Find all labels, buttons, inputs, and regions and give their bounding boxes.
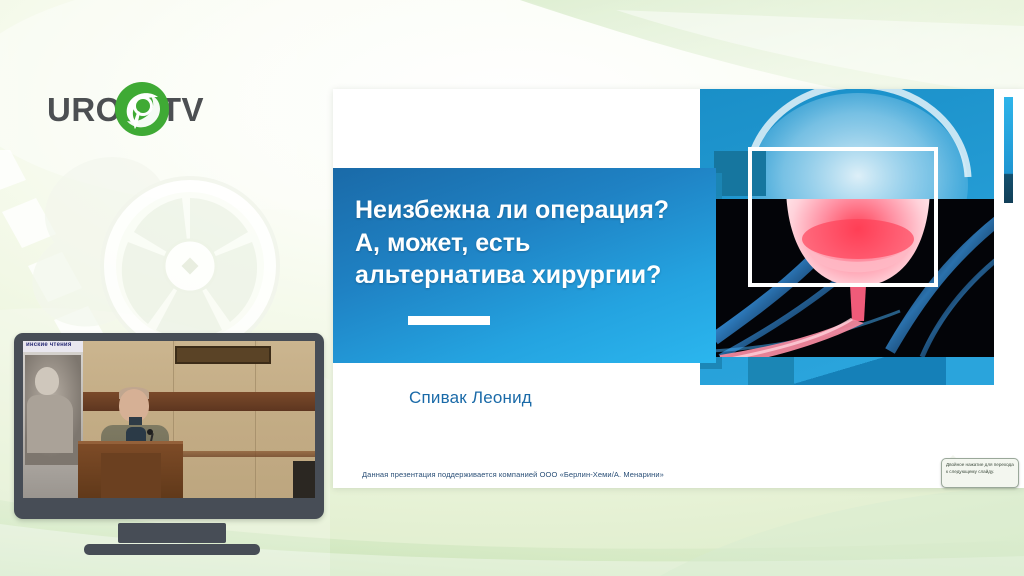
hall-dark-corner [293,461,315,498]
bladder-prostate-anatomy-illustration [700,89,1024,385]
monitor-stand-neck [118,523,226,543]
urotv-leaf-emblem-icon [114,81,170,137]
wall-picture-frame [175,346,271,364]
title-underline-rule [408,316,490,325]
presentation-viewer: URO TV ински [0,0,1024,576]
microphone-head-icon [147,429,153,435]
wall-seam [255,341,258,498]
slide-title-box: Неизбежна ли операция? А, может, есть ал… [333,168,716,363]
slide-accent-vertical-bar [1004,97,1013,203]
slide-speaker-name: Спивак Леонид [409,388,532,408]
slide-title-line-1: Неизбежна ли операция? [355,194,700,227]
video-screen[interactable]: инские чтения [23,341,315,498]
monitor-bezel: инские чтения [14,333,324,519]
urotv-logo[interactable]: URO TV [47,78,204,140]
wall-wood-stripe [79,392,315,411]
portrait-head [35,367,59,395]
conference-banner: инские чтения [23,341,83,498]
next-slide-tooltip: Двойное нажатие для перехода к следующем… [941,458,1019,488]
slide-title-line-2: А, может, есть [355,227,700,260]
slide-sponsor-disclaimer: Данная презентация поддерживается компан… [362,470,664,479]
slide-title: Неизбежна ли операция? А, может, есть ал… [355,194,700,292]
lecture-video-player[interactable]: инские чтения [14,333,324,556]
logo-text-uro: URO [47,93,122,126]
banner-title-text: инские чтения [26,342,72,348]
portrait-body [27,395,73,453]
monitor-stand-base [84,544,260,555]
slide-title-line-3: альтернатива хирургии? [355,259,700,292]
banner-portrait-photo [25,355,81,465]
presentation-slide[interactable]: Неизбежна ли операция? А, может, есть ал… [333,89,1024,488]
podium-front-panel [101,453,161,498]
